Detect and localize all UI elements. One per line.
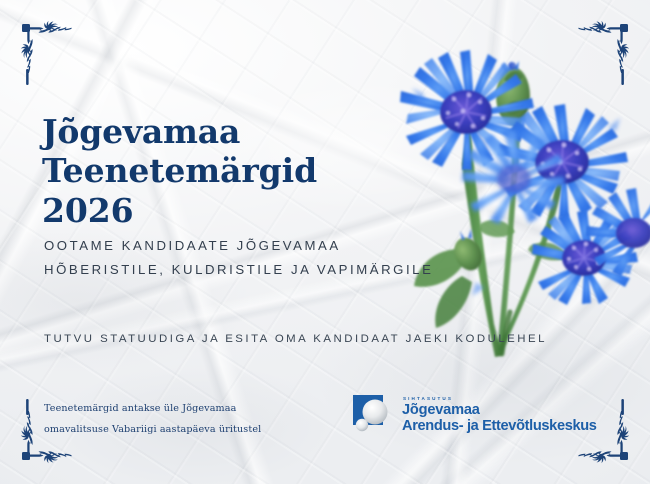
subtitle-line-1: OOTAME KANDIDAATE JÕGEVAMAA [44, 234, 564, 258]
page-title: Jõgevamaa Teenetemärgid 2026 [42, 112, 412, 230]
logo-kicker: SIHTASUTUS [403, 397, 597, 402]
title-line-1: Jõgevamaa [42, 112, 412, 151]
subtitle-line-2: HÕBERISTILE, KULDRISTILE JA VAPIMÄRGILE [44, 258, 564, 282]
jaek-logo-text: SIHTASUTUS Jõgevamaa Arendus- ja Ettevõt… [402, 397, 597, 434]
title-line-2: Teenetemärgid 2026 [42, 151, 412, 230]
logo-line-2: Arendus- ja Ettevõtluskeskus [402, 419, 597, 434]
jaek-logo-mark [352, 392, 394, 438]
jaek-logo[interactable]: SIHTASUTUS Jõgevamaa Arendus- ja Ettevõt… [352, 392, 597, 438]
footnote-block: Teenetemärgid antakse üle Jõgevamaa omav… [44, 398, 314, 441]
footnote-line-1: Teenetemärgid antakse üle Jõgevamaa [44, 398, 314, 419]
logo-line-1: Jõgevamaa [402, 403, 597, 418]
call-to-action-text: TUTVU STATUUDIGA JA ESITA OMA KANDIDAAT … [44, 333, 624, 345]
poster-canvas: Jõgevamaa Teenetemärgid 2026 OOTAME KAND… [0, 0, 650, 484]
footnote-line-2: omavalitsuse Vabariigi aastapäeva üritus… [44, 419, 314, 440]
corner-flourish-ornament-top-left [14, 14, 88, 88]
subtitle-block: OOTAME KANDIDAATE JÕGEVAMAA HÕBERISTILE,… [44, 234, 564, 283]
